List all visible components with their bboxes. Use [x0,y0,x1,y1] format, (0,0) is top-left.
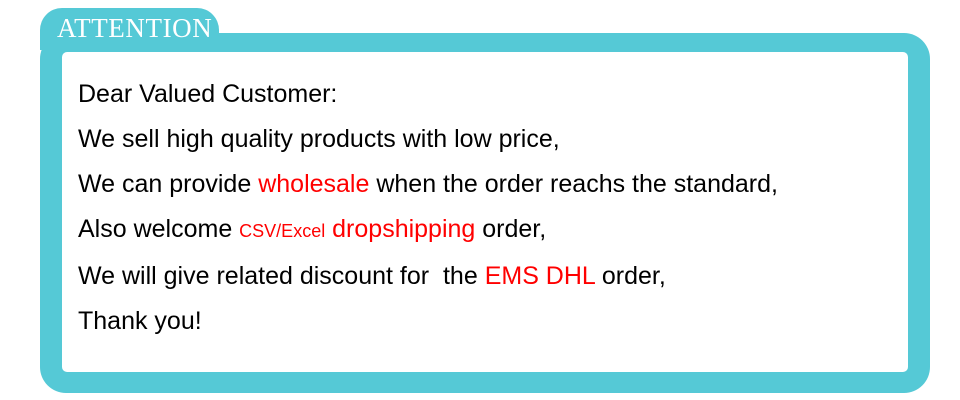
banner-title: ATTENTION [57,13,212,43]
text-segment: We can provide [78,170,258,198]
message-line-thanks: Thank you! [78,299,898,344]
message-line-dropshipping: Also welcome CSV/Excel dropshipping orde… [78,207,898,254]
message-line-shipping-discount: We will give related discount for the EM… [78,254,898,299]
text-segment: when the order reachs the standard, [369,170,778,198]
text-segment: We sell high quality products with low p… [78,125,560,153]
text-segment: Also welcome [78,215,239,243]
text-segment: We will give related discount for the [78,262,485,290]
message-line-wholesale: We can provide wholesale when the order … [78,162,898,207]
message-line-quality-price: We sell high quality products with low p… [78,117,898,162]
highlight-segment: wholesale [258,170,369,198]
message-body: Dear Valued Customer:We sell high qualit… [78,72,898,344]
text-segment: Dear Valued Customer: [78,80,337,108]
highlight-segment: dropshipping [332,215,475,243]
text-segment: order, [595,262,666,290]
text-segment: order, [475,215,546,243]
text-segment: Thank you! [78,307,202,335]
highlight-segment: EMS DHL [485,262,595,290]
attention-notice-banner: ATTENTION Dear Valued Customer:We sell h… [0,0,960,400]
message-line-greeting: Dear Valued Customer: [78,72,898,117]
highlight-segment: CSV/Excel [239,221,325,241]
